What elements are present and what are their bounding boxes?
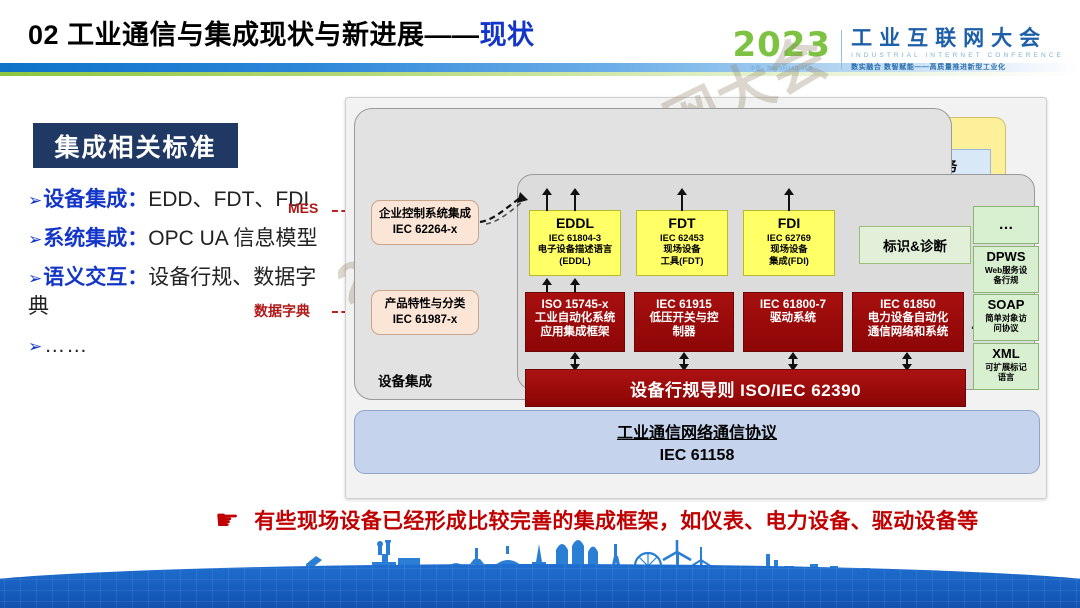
box-title: XML [975, 347, 1037, 362]
bullet-key: 语义交互： [43, 266, 148, 289]
box-title: FDT [639, 215, 725, 232]
box-desc-2: (EDDL) [532, 256, 618, 267]
title-divider-green [0, 72, 1080, 76]
arrow-head-icon [788, 352, 798, 359]
arrow-head-icon [677, 188, 687, 195]
box-line-1: 企业控制系统集成 [375, 207, 475, 223]
box-iec-61850: IEC 61850 电力设备自动化 通信网络和系统 [852, 292, 964, 352]
box-desc-2: 语言 [975, 373, 1037, 383]
box-title: SOAP [975, 298, 1037, 313]
box-desc-2: 问协议 [975, 324, 1037, 334]
arrow-fdi-up [788, 194, 790, 211]
arrow-fdt-up [681, 194, 683, 211]
box-standard: IEC 61850 [855, 297, 961, 311]
page-title-highlight: 现状 [480, 20, 535, 50]
logo-tagline: 数实融合 数智赋能——高质量推进新型工业化 [851, 62, 1064, 72]
arrow-head-icon [570, 188, 580, 195]
box-desc-1: 现场设备 [639, 244, 725, 255]
protocol-standard: IEC 61158 [660, 447, 735, 465]
communication-protocol-bar: 工业通信网络通信协议 IEC 61158 [354, 410, 1040, 474]
box-product-properties-classification: 产品特性与分类 IEC 61987-x [371, 290, 479, 335]
arrow-head-icon [542, 188, 552, 195]
box-desc-1: 电子设备描述语言 [532, 244, 618, 255]
device-integration-label: 设备集成 [378, 370, 432, 390]
box-desc-1: 可扩展标记 [975, 363, 1037, 373]
box-title: DPWS [975, 250, 1037, 265]
box-standard: IEC 62453 [639, 233, 725, 244]
box-standard: IEC 61800-7 [746, 297, 840, 311]
bullet-text: OPC UA 信息模型 [148, 227, 317, 250]
arrow-iso15745-up-2 [574, 284, 576, 292]
box-desc-1: 现场设备 [746, 244, 832, 255]
arrow-head-icon [570, 352, 580, 359]
footer-caption-text: 有些现场设备已经形成比较完善的集成框架，如仪表、电力设备、驱动设备等 [254, 505, 978, 535]
box-desc-1: Web服务设 [975, 266, 1037, 276]
box-dpws: DPWS Web服务设 备行规 [973, 246, 1039, 293]
arrow-head-icon [902, 352, 912, 359]
logo-name-block: 工业互联网大会 INDUSTRIAL INTERNET CONFERENCE 数… [851, 28, 1064, 72]
box-iso-15745: ISO 15745-x 工业自动化系统 应用集成框架 [525, 292, 625, 352]
box-iec-61800-7: IEC 61800-7 驱动系统 [743, 292, 843, 352]
box-enterprise-control-integration: 企业控制系统集成 IEC 62264-x [371, 200, 479, 245]
logo-year-block: 2023 中国 · 苏州 9月14日-16日 [732, 28, 841, 72]
bullet-marker-icon: ➢ [28, 269, 42, 288]
pointing-hand-icon: ☛ [215, 507, 239, 534]
page-title: 02 工业通信与集成现状与新进展——现状 [28, 13, 535, 52]
box-fdt: FDT IEC 62453 现场设备 工具(FDT) [636, 210, 728, 276]
logo-divider [841, 30, 842, 70]
protocol-name-cn: 工业通信网络通信协议 [617, 419, 777, 443]
box-desc-1: 驱动系统 [746, 312, 840, 326]
arrow-head-icon [784, 188, 794, 195]
box-line-2: IEC 61987-x [375, 313, 475, 329]
box-desc-1: 电力设备自动化 [855, 312, 961, 326]
logo-name-cn: 工业互联网大会 [851, 28, 1064, 49]
list-item: ➢…… [28, 331, 333, 361]
arrow-head-icon [570, 278, 580, 285]
arrow-eddl-up-2 [574, 194, 576, 211]
device-modeling-frame [517, 174, 1035, 390]
panel-heading: 集成相关标准 [33, 123, 238, 168]
bullet-key: 系统集成： [43, 227, 148, 250]
arrow-head-icon [542, 278, 552, 285]
bullet-marker-icon: ➢ [28, 191, 42, 210]
box-standard: IEC 61804-3 [532, 233, 618, 244]
box-desc-1: 工业自动化系统 [528, 312, 622, 326]
box-identification-diagnostics: 标识&诊断 [859, 226, 971, 264]
box-title: FDI [746, 215, 832, 232]
arrow-head-icon [679, 352, 689, 359]
arrow-eddl-up [546, 194, 548, 211]
box-eddl: EDDL IEC 61804-3 电子设备描述语言 (EDDL) [529, 210, 621, 276]
box-green-ellipsis: … [973, 206, 1039, 244]
decorative-skyline [0, 540, 1080, 608]
page-title-number: 02 [28, 20, 59, 50]
skyline-ground [0, 564, 1080, 608]
logo-year: 2023 [732, 28, 831, 62]
box-standard: IEC 62769 [746, 233, 832, 244]
conference-logo: 2023 中国 · 苏州 9月14日-16日 工业互联网大会 INDUSTRIA… [732, 28, 1064, 72]
box-line-1: 产品特性与分类 [375, 297, 475, 313]
box-line-2: IEC 62264-x [375, 223, 475, 239]
box-desc-2: 集成(FDI) [746, 256, 832, 267]
logo-name-en: INDUSTRIAL INTERNET CONFERENCE [851, 52, 1064, 59]
box-desc-2: 工具(FDT) [639, 256, 725, 267]
box-soap: SOAP 简单对象访 问协议 [973, 294, 1039, 341]
bullet-text: EDD、FDT、FDI [148, 188, 309, 211]
list-item: ➢系统集成：OPC UA 信息模型 [28, 224, 333, 254]
box-desc-2: 应用集成框架 [528, 326, 622, 340]
box-fdi: FDI IEC 62769 现场设备 集成(FDI) [743, 210, 835, 276]
box-desc-1: 简单对象访 [975, 314, 1037, 324]
architecture-diagram: 2023工业互联网大会 OPC-UA IEC 62541 信息模型 Web 服务… [345, 97, 1047, 499]
footer-caption: ☛ 有些现场设备已经形成比较完善的集成框架，如仪表、电力设备、驱动设备等 [215, 505, 978, 535]
page-title-main: 工业通信与集成现状与新进展—— [67, 20, 480, 50]
label-data-dictionary: 数据字典 [254, 301, 310, 321]
bullet-marker-icon: ➢ [28, 230, 42, 249]
box-desc-2: 制器 [637, 326, 731, 340]
arrow-iso15745-up [546, 284, 548, 292]
box-desc-2: 备行规 [975, 276, 1037, 286]
bullet-text: …… [44, 334, 88, 357]
box-desc-1: 低压开关与控 [637, 312, 731, 326]
device-profile-guideline-bar: 设备行规导则 ISO/IEC 62390 [525, 369, 966, 407]
label-mes: MES [288, 200, 318, 216]
bullet-marker-icon: ➢ [28, 337, 43, 356]
box-standard: IEC 61915 [637, 297, 731, 311]
box-standard: ISO 15745-x [528, 297, 622, 311]
box-iec-61915: IEC 61915 低压开关与控 制器 [634, 292, 734, 352]
logo-year-subtitle: 中国 · 苏州 9月14日-16日 [732, 65, 831, 72]
box-desc-2: 通信网络和系统 [855, 326, 961, 340]
box-xml: XML 可扩展标记 语言 [973, 343, 1039, 390]
bullet-key: 设备集成： [43, 188, 148, 211]
box-title: EDDL [532, 215, 618, 232]
